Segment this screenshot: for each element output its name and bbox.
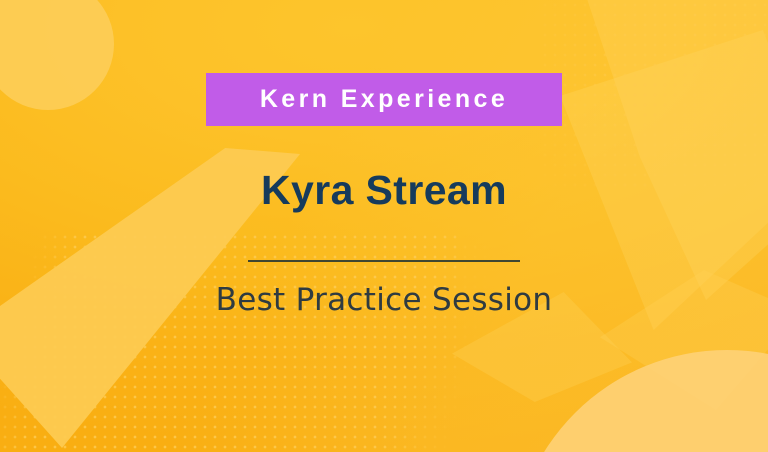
eyebrow-badge: Kern Experience (206, 73, 562, 126)
eyebrow-badge-label: Kern Experience (260, 87, 508, 112)
banner-content: Kern Experience Kyra Stream Best Practic… (0, 0, 768, 452)
event-banner: Kern Experience Kyra Stream Best Practic… (0, 0, 768, 452)
page-title: Kyra Stream (261, 170, 507, 211)
page-subtitle: Best Practice Session (216, 285, 553, 316)
title-divider (248, 260, 520, 262)
